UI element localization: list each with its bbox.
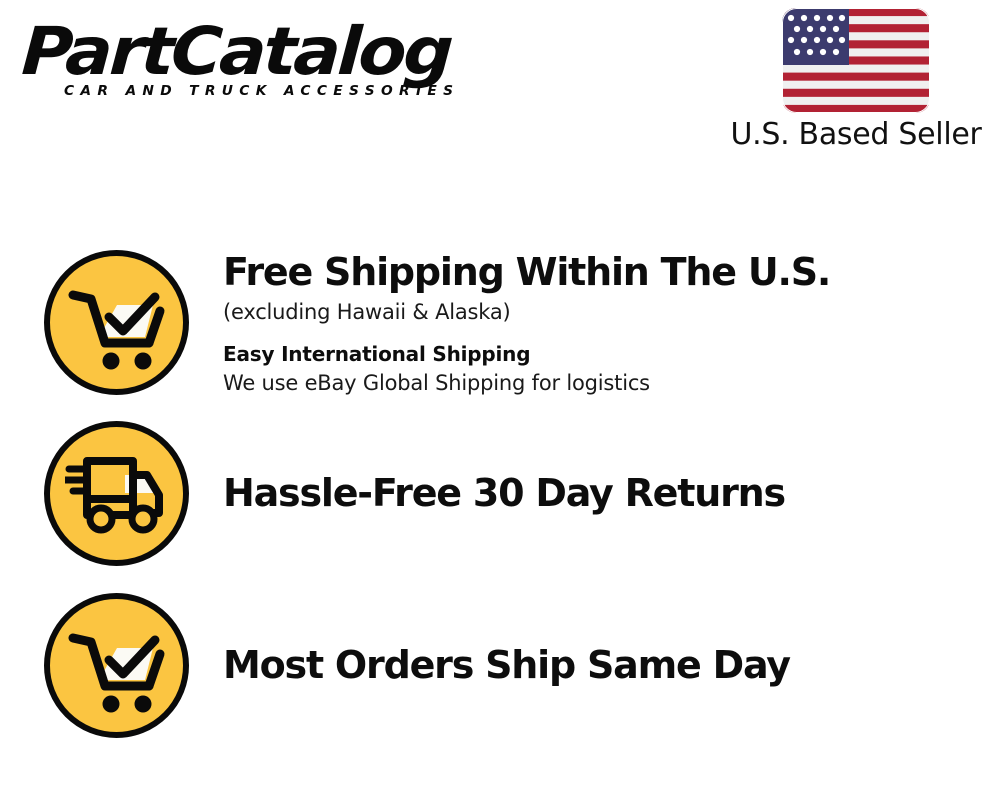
feature-text-block: Hassle-Free 30 Day Returns [223, 473, 785, 513]
brand-wordmark: PartCatalog [20, 20, 522, 85]
us-based-seller-badge: U.S. Based Seller [722, 8, 990, 152]
feature-subtext-strong: Easy International Shipping [223, 341, 830, 367]
us-based-seller-label: U.S. Based Seller [722, 117, 990, 152]
feature-subtext-detail: We use eBay Global Shipping for logistic… [223, 370, 830, 397]
feature-subtext: (excluding Hawaii & Alaska) [223, 298, 830, 326]
us-flag-icon [782, 8, 930, 113]
feature-heading: Hassle-Free 30 Day Returns [223, 473, 785, 513]
feature-row: Free Shipping Within The U.S. (excluding… [44, 250, 984, 397]
shopping-cart-check-icon [44, 593, 189, 738]
feature-heading: Most Orders Ship Same Day [223, 645, 790, 685]
brand-logo: PartCatalog CAR AND TRUCK ACCESSORIES [22, 20, 492, 99]
feature-heading: Free Shipping Within The U.S. [223, 252, 830, 292]
delivery-truck-icon [44, 421, 189, 566]
feature-text-block: Most Orders Ship Same Day [223, 645, 790, 685]
feature-row: Most Orders Ship Same Day [44, 593, 984, 738]
shopping-cart-check-icon [44, 250, 189, 395]
brand-tagline: CAR AND TRUCK ACCESSORIES [64, 83, 501, 99]
feature-text-block: Free Shipping Within The U.S. (excluding… [223, 250, 830, 397]
feature-row: Hassle-Free 30 Day Returns [44, 421, 984, 566]
